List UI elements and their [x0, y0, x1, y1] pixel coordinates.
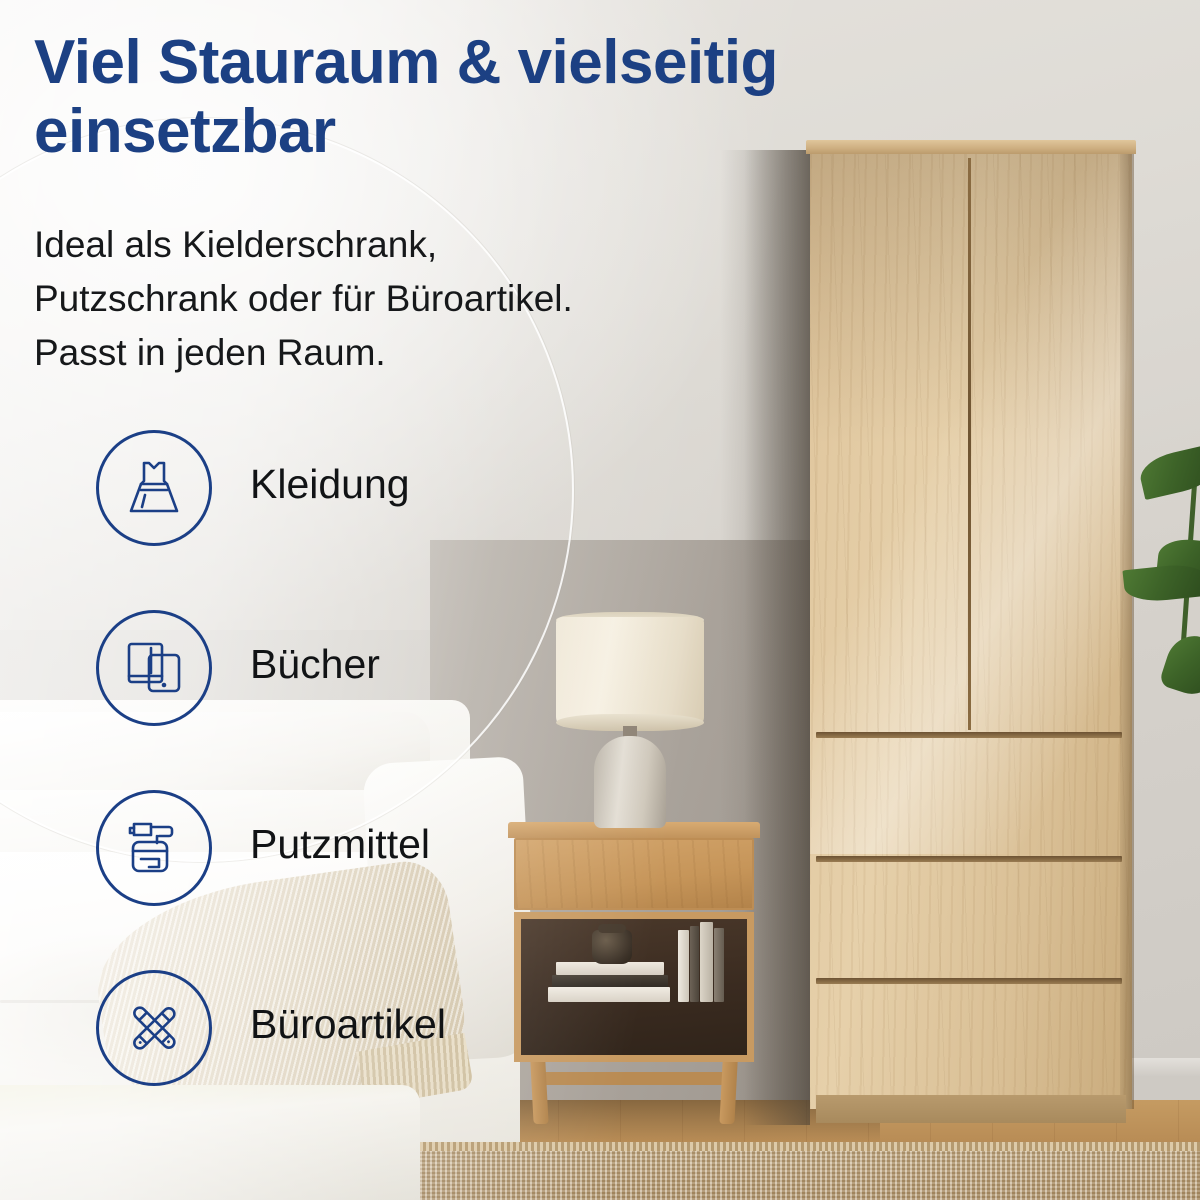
subtitle-copy: Ideal als Kielderschrank, Putzschrank od… [34, 218, 734, 380]
feature-item-putzmittel: Putzmittel [96, 790, 656, 970]
feature-label: Bücher [250, 644, 380, 685]
spray-bottle-icon [121, 815, 187, 881]
page-title: Viel Stauraum & vielseitig einsetzbar [34, 28, 934, 167]
headline-line-2: einsetzbar [34, 97, 934, 166]
feature-icon-badge [96, 970, 212, 1086]
feature-icon-badge [96, 790, 212, 906]
books-tablet-icon [121, 635, 187, 701]
feature-label: Putzmittel [250, 824, 430, 865]
feature-item-buecher: Bücher [96, 610, 656, 790]
content-overlay: Viel Stauraum & vielseitig einsetzbar Id… [0, 0, 1200, 1200]
crossed-pens-icon [121, 995, 187, 1061]
feature-label: Büroartikel [250, 1004, 446, 1045]
feature-icon-badge [96, 610, 212, 726]
feature-item-kleidung: Kleidung [96, 430, 656, 610]
feature-list: Kleidung Bücher [96, 430, 656, 1150]
headline-line-1: Viel Stauraum & vielseitig [34, 28, 934, 97]
feature-label: Kleidung [250, 464, 410, 505]
subcopy-line-3: Passt in jeden Raum. [34, 326, 734, 380]
subcopy-line-1: Ideal als Kielderschrank, [34, 218, 734, 272]
feature-item-bueroartikel: Büroartikel [96, 970, 656, 1150]
feature-icon-badge [96, 430, 212, 546]
promo-image: Viel Stauraum & vielseitig einsetzbar Id… [0, 0, 1200, 1200]
dress-icon [121, 455, 187, 521]
subcopy-line-2: Putzschrank oder für Büroartikel. [34, 272, 734, 326]
